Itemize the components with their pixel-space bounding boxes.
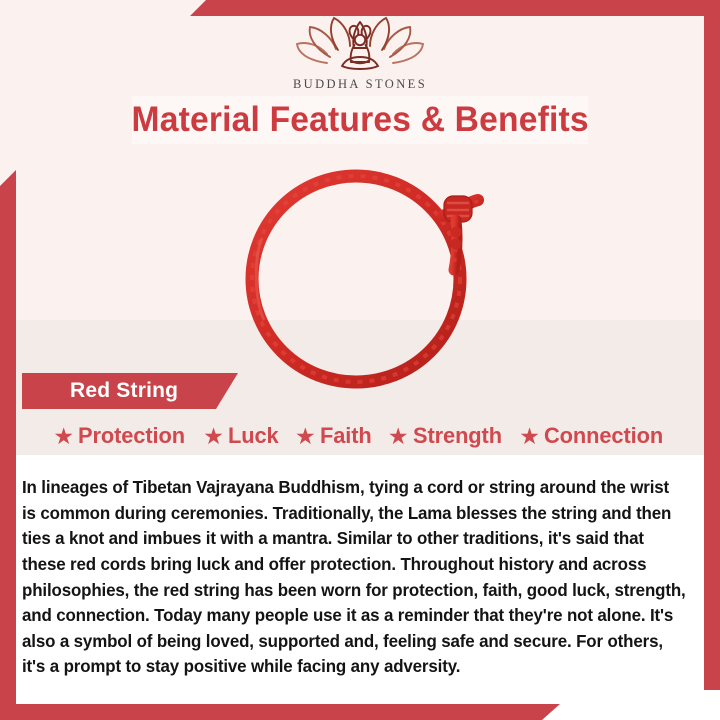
star-icon: ★ [519, 425, 540, 448]
product-image [228, 158, 496, 393]
description-text: In lineages of Tibetan Vajrayana Buddhis… [22, 475, 686, 680]
feature-item-faith: ★ Faith [295, 423, 373, 449]
brand-logo: BUDDHA STONES [0, 14, 720, 92]
feature-label: Connection [544, 423, 663, 449]
feature-label: Faith [320, 423, 372, 449]
page-title: Material Features & Benefits [131, 100, 588, 140]
brand-name: BUDDHA STONES [0, 77, 720, 92]
feature-item-protection: ★ Protection [53, 423, 188, 449]
star-icon: ★ [53, 425, 74, 448]
star-icon: ★ [388, 425, 409, 448]
product-label-banner: Red String [22, 373, 238, 409]
decorative-border-bottom [0, 704, 560, 720]
decorative-border-right [704, 0, 720, 690]
description-block: In lineages of Tibetan Vajrayana Buddhis… [22, 458, 696, 697]
star-icon: ★ [203, 425, 224, 448]
feature-item-strength: ★ Strength [388, 423, 504, 449]
feature-list: ★ Protection ★ Luck ★ Faith ★ Strength ★… [0, 419, 720, 453]
lotus-meditation-icon [0, 14, 720, 76]
star-icon: ★ [295, 425, 316, 448]
feature-item-connection: ★ Connection [519, 423, 666, 449]
infographic-canvas: BUDDHA STONES Material Features & Benefi… [0, 0, 720, 720]
feature-label: Luck [228, 423, 279, 449]
feature-item-luck: ★ Luck [203, 423, 280, 449]
feature-label: Strength [413, 423, 502, 449]
title-banner: Material Features & Benefits [132, 96, 588, 144]
product-label: Red String [22, 379, 178, 403]
feature-label: Protection [78, 423, 185, 449]
